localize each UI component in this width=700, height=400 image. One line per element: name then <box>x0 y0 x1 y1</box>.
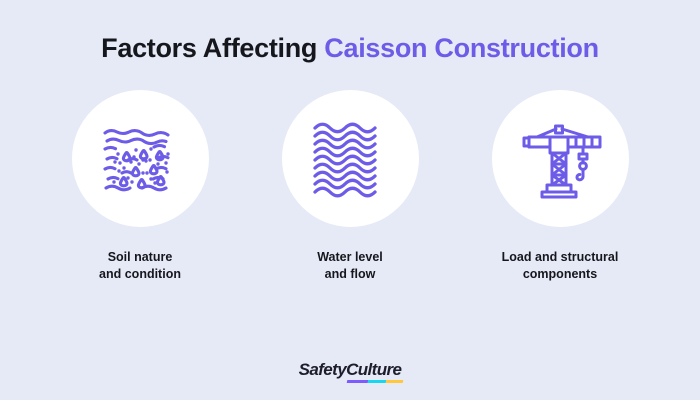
title-prefix: Factors Affecting <box>101 33 324 63</box>
tower-crane-icon <box>517 115 603 201</box>
title-block: Factors Affecting Caisson Construction <box>0 34 700 64</box>
underline-segment-yellow <box>386 380 403 383</box>
factor-card-crane: Load and structural components <box>477 90 643 285</box>
factor-card-soil: Soil nature and condition <box>57 90 223 285</box>
factor-label-crane: Load and structural components <box>502 249 619 285</box>
factors-row: Soil nature and condition <box>57 90 643 285</box>
water-waves-icon <box>309 117 391 199</box>
factor-card-water: Water level and flow <box>267 90 433 285</box>
icon-circle-crane <box>492 90 629 227</box>
brand-word-culture: Culture <box>346 360 401 379</box>
infographic-canvas: Factors Affecting Caisson Construction <box>0 0 700 400</box>
factor-label-water: Water level and flow <box>317 249 383 285</box>
factor-label-soil: Soil nature and condition <box>99 249 181 285</box>
brand-word-safety: Safety <box>299 360 346 379</box>
underline-segment-cyan <box>368 380 387 383</box>
footer-brand: SafetyCulture <box>0 361 700 383</box>
page-title: Factors Affecting Caisson Construction <box>0 34 700 64</box>
underline-segment-purple <box>347 380 369 383</box>
icon-circle-soil <box>72 90 209 227</box>
safetyculture-logo: SafetyCulture <box>299 361 402 383</box>
soil-layers-icon <box>98 116 182 200</box>
title-accent: Caisson Construction <box>324 33 599 63</box>
brand-underline <box>347 380 404 383</box>
icon-circle-water <box>282 90 419 227</box>
